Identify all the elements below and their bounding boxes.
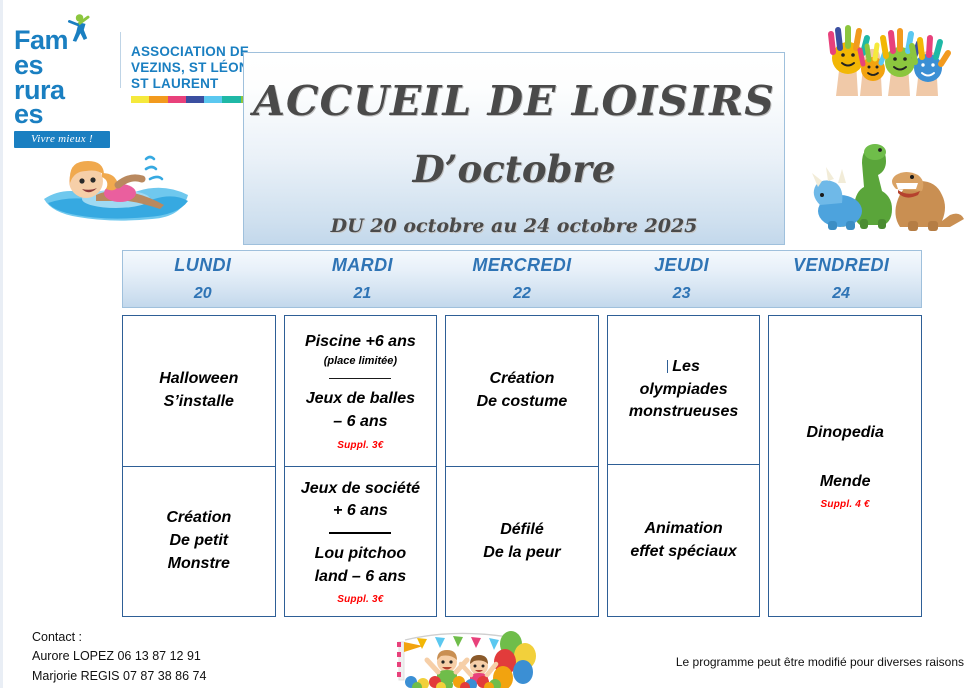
activity-line: De petit [169,530,228,553]
activity-line: Jeux de balles [306,388,415,411]
activity-line: De costume [477,391,568,414]
contact-block: Contact : Aurore LOPEZ 06 13 87 12 91 Ma… [32,628,206,686]
title-banner: ACCUEIL DE LOISIRS D’octobre DU 20 octob… [243,52,785,245]
day-column-lundi: Halloween S’installe Création De petit M… [122,315,276,617]
swimming-girl-image [42,133,192,231]
supplement-fee: Suppl. 3€ [337,594,383,605]
activity-line: Création [166,507,231,530]
activity-line: Halloween [159,368,238,391]
weekday-number: 21 [353,285,371,303]
color-bar [131,96,259,103]
weekday-header-vendredi: VENDREDI 24 [761,251,921,307]
activity-line: Jeux de société [301,478,420,501]
weekday-name: VENDREDI [793,255,889,276]
activity-note: (place limitée) [324,354,397,370]
weekday-name: MARDI [332,255,393,276]
color-bar-seg [149,96,167,103]
date-range-text: DU 20 octobre au 24 octobre 2025 [244,215,784,237]
day-column-mercredi: Création De costume Défilé De la peur [445,315,599,617]
activity-cell-jeudi-afternoon[interactable]: Animation effet spéciaux [607,465,761,617]
activity-cell-mardi-morning[interactable]: Piscine +6 ans (place limitée) Jeux de b… [284,315,438,467]
day-column-mardi: Piscine +6 ans (place limitée) Jeux de b… [284,315,438,617]
page-left-edge [0,0,3,688]
weekday-number: 22 [513,285,531,303]
weekday-number: 23 [673,285,691,303]
activity-cell-lundi-afternoon[interactable]: Création De petit Monstre [122,467,276,617]
weekday-header-mardi: MARDI 21 [283,251,443,307]
color-bar-seg [204,96,222,103]
activity-line: Création [490,368,555,391]
logo-line-2: ruraes [14,78,110,128]
activity-line: Dinopedia [807,422,884,445]
weekday-header-lundi: LUNDI 20 [123,251,283,307]
activity-line: De la peur [483,542,560,565]
activity-line: S’installe [164,391,234,414]
page-subtitle: D’octobre [244,147,784,191]
activity-line: Monstre [168,553,230,576]
day-column-jeudi: Les olympiades monstrueuses Animation ef… [607,315,761,617]
activity-cell-vendredi-allday[interactable]: Dinopedia Mende Suppl. 4 € [768,315,922,617]
activity-line: Les [667,356,700,379]
disclaimer-text: Le programme peut être modifié pour dive… [676,655,964,669]
dinosaurs-image [800,133,968,233]
activity-cell-mardi-afternoon[interactable]: Jeux de société + 6 ans Lou pitchoo land… [284,467,438,617]
contact-label: Contact : [32,628,206,647]
activity-line: Piscine +6 ans [305,331,416,354]
supplement-fee: Suppl. 4 € [821,499,870,510]
jumping-person-icon [60,12,94,46]
page-title: ACCUEIL DE LOISIRS [244,77,784,125]
color-bar-seg [168,96,186,103]
weekday-number: 24 [832,285,850,303]
painted-hands-image [820,22,970,98]
weekday-name: MERCREDI [472,255,571,276]
logo-wordmark: Fames ruraes [14,28,110,127]
weekday-header-mercredi: MERCREDI 22 [442,251,602,307]
day-column-vendredi: Dinopedia Mende Suppl. 4 € [768,315,922,617]
weekday-header-bar: LUNDI 20 MARDI 21 MERCREDI 22 JEUDI 23 V… [122,250,922,308]
text-cursor-icon [667,360,668,373]
brand-header: Fames ruraes Vivre mieux ! ASSOCIATION D… [14,28,262,148]
divider-rule [329,532,391,534]
divider-rule [329,378,391,379]
activity-line: Lou pitchoo [315,543,407,566]
weekday-name: JEUDI [654,255,709,276]
weekday-name: LUNDI [174,255,231,276]
weekday-number: 20 [194,285,212,303]
party-kids-image [385,624,545,688]
activity-line: land – 6 ans [315,566,407,589]
activity-line: effet spéciaux [630,541,736,564]
activity-line: – 6 ans [333,411,387,434]
color-bar-seg [131,96,149,103]
brand-divider [120,32,121,88]
supplement-fee: Suppl. 3€ [337,440,383,451]
activity-line: + 6 ans [333,500,388,523]
color-bar-seg [222,96,240,103]
familles-rurales-logo: Fames ruraes Vivre mieux ! [14,28,110,148]
activity-line: Animation [644,518,722,541]
weekday-header-jeudi: JEUDI 23 [602,251,762,307]
activity-line: Défilé [500,519,544,542]
activity-cell-jeudi-morning[interactable]: Les olympiades monstrueuses [607,315,761,465]
activity-line: olympiades [640,379,728,402]
activity-grid: Halloween S’installe Création De petit M… [122,315,922,617]
contact-person-1: Aurore LOPEZ 06 13 87 12 91 [32,647,206,666]
color-bar-seg [186,96,204,103]
activity-cell-mercredi-afternoon[interactable]: Défilé De la peur [445,467,599,617]
activity-cell-lundi-morning[interactable]: Halloween S’installe [122,315,276,467]
contact-person-2: Marjorie REGIS 07 87 38 86 74 [32,667,206,686]
activity-line: Mende [820,471,871,494]
activity-cell-mercredi-morning[interactable]: Création De costume [445,315,599,467]
activity-line: monstrueuses [629,401,738,424]
